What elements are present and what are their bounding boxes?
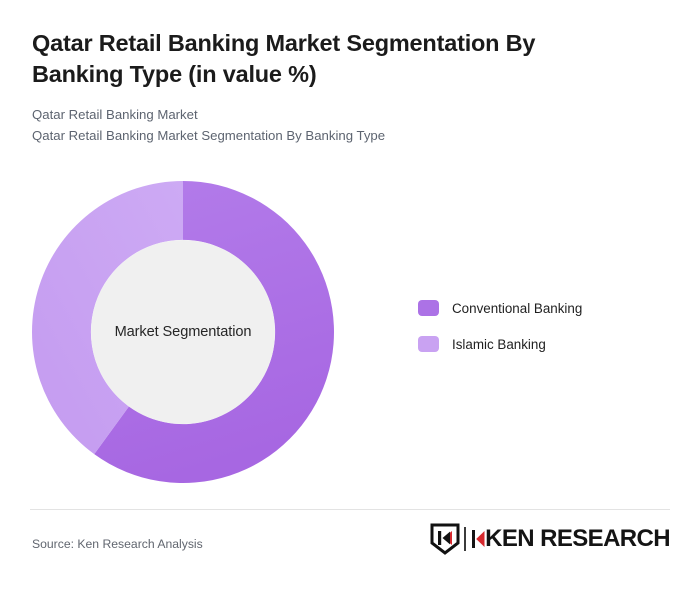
legend-swatch-conventional-banking <box>418 300 439 316</box>
footer-divider <box>30 509 670 510</box>
subtitle-line-market: Qatar Retail Banking Market <box>32 105 652 125</box>
chart-legend: Conventional Banking Islamic Banking <box>418 300 668 372</box>
chart-area: Market Segmentation Conventional Banking… <box>0 172 700 497</box>
legend-swatch-islamic-banking <box>418 336 439 352</box>
legend-label-conventional-banking: Conventional Banking <box>452 301 582 316</box>
donut-center-hole <box>91 240 275 424</box>
brand-logo: KEN RESEARCH <box>430 522 670 556</box>
brand-wordmark: KEN RESEARCH <box>464 527 670 551</box>
subtitle-line-segmentation: Qatar Retail Banking Market Segmentation… <box>32 126 652 146</box>
brand-name-text: KEN RESEARCH <box>485 527 670 551</box>
page-title: Qatar Retail Banking Market Segmentation… <box>32 28 592 89</box>
brand-divider-rule <box>464 527 466 551</box>
ken-research-shield-icon <box>430 523 460 555</box>
legend-label-islamic-banking: Islamic Banking <box>452 337 546 352</box>
donut-svg <box>32 181 334 483</box>
source-note: Source: Ken Research Analysis <box>32 537 203 551</box>
donut-chart: Market Segmentation <box>32 181 334 483</box>
legend-item-conventional-banking[interactable]: Conventional Banking <box>418 300 668 316</box>
header: Qatar Retail Banking Market Segmentation… <box>32 28 652 146</box>
brand-name: KEN RESEARCH <box>471 527 670 551</box>
breadcrumb: Qatar Retail Banking Market Qatar Retail… <box>32 105 652 146</box>
legend-item-islamic-banking[interactable]: Islamic Banking <box>418 336 668 352</box>
brand-k-icon <box>472 528 485 550</box>
chart-card: Qatar Retail Banking Market Segmentation… <box>0 0 700 591</box>
